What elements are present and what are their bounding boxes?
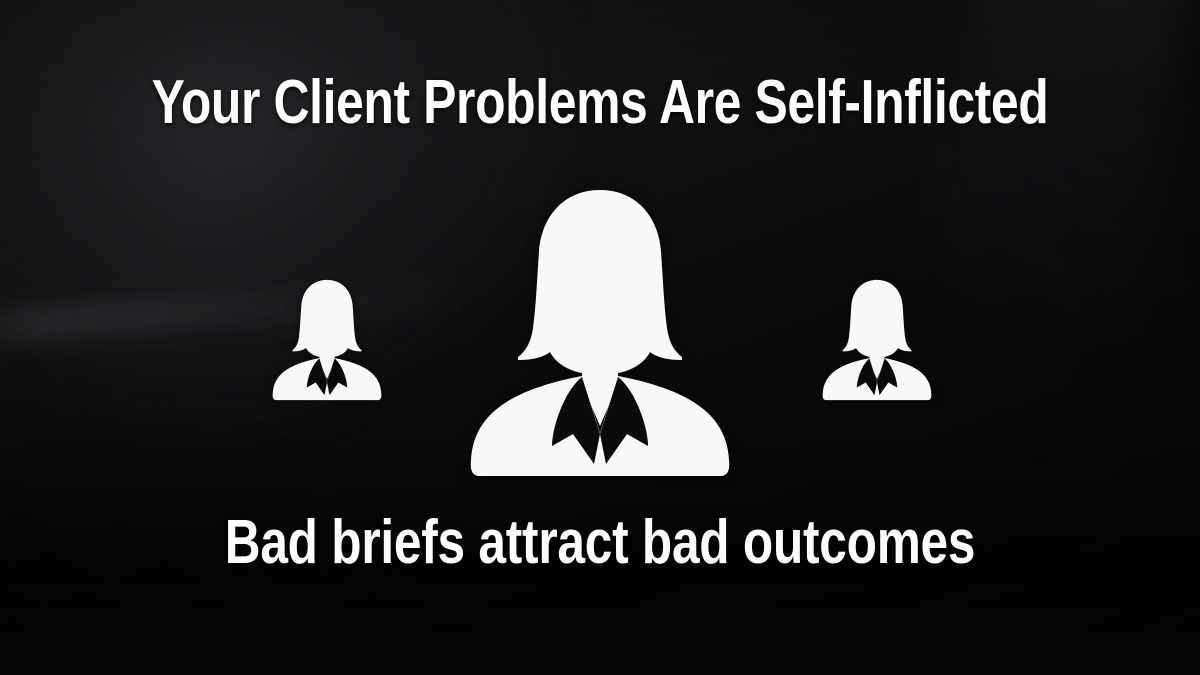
page-title: Your Client Problems Are Self-Inflicted xyxy=(117,72,1083,134)
businesswoman-avatar-center xyxy=(466,188,734,478)
businesswoman-avatar-left xyxy=(268,279,386,401)
slide-canvas: Your Client Problems Are Self-Inflicted xyxy=(0,0,1200,675)
page-subtitle: Bad briefs attract bad outcomes xyxy=(120,512,1080,574)
businesswoman-avatar-right xyxy=(818,279,936,401)
